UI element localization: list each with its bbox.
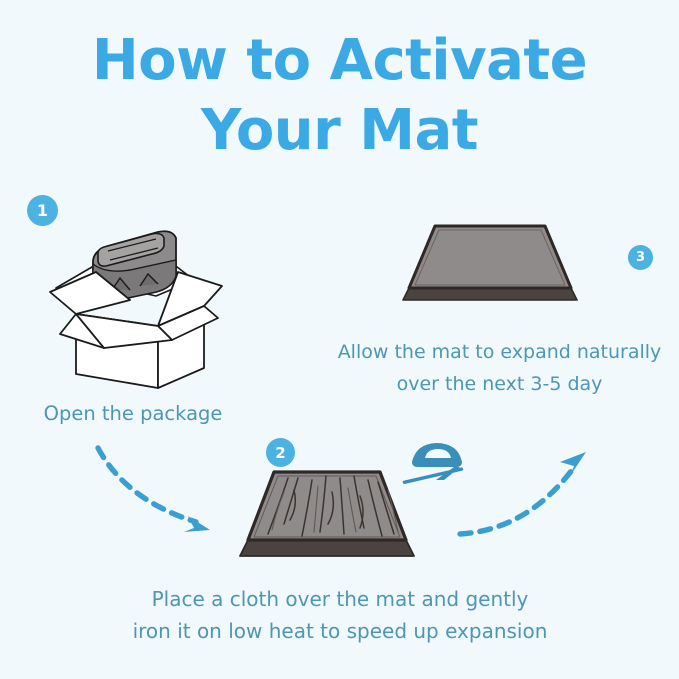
step-2-caption-line-2: iron it on low heat to speed up expansio… [60, 615, 620, 647]
step-2-caption: Place a cloth over the mat and gently ir… [60, 583, 620, 647]
step-badge-3: 3 [628, 245, 653, 270]
title-line-2: Your Mat [0, 96, 679, 166]
mat-flat-icon [395, 218, 585, 313]
page-title: How to Activate Your Mat [0, 26, 679, 166]
step-3-caption-line-1: Allow the mat to expand naturally [320, 336, 679, 368]
infographic-canvas: How to Activate Your Mat 1 [0, 0, 679, 679]
cardboard-box-icon [46, 222, 226, 392]
step-1-caption-line-1: Open the package [0, 398, 266, 430]
title-line-1: How to Activate [0, 26, 679, 96]
arrow-step1-to-step2 [92, 442, 222, 542]
arrow-step2-to-step3 [456, 444, 596, 544]
step-2-caption-line-1: Place a cloth over the mat and gently [60, 583, 620, 615]
step-3-caption: Allow the mat to expand naturally over t… [320, 336, 679, 400]
step-1-caption: Open the package [0, 398, 266, 430]
step-3-caption-line-2: over the next 3-5 day [320, 368, 679, 400]
